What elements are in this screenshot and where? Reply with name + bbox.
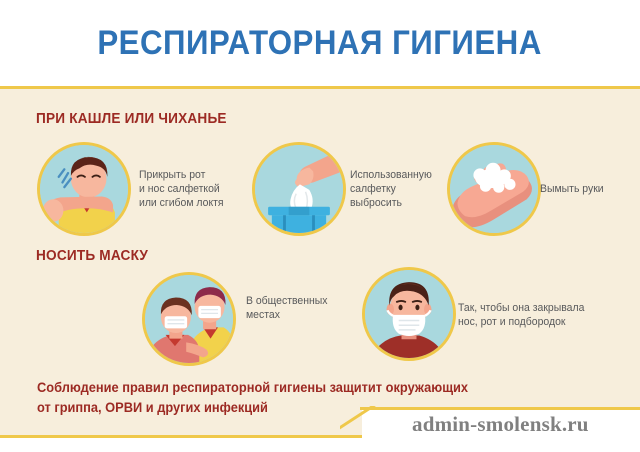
caption-line: нос, рот и подбородок <box>458 315 584 329</box>
masked-person-illustration <box>365 270 453 358</box>
washing-hands-icon <box>447 142 541 236</box>
tissue-bin-illustration <box>255 145 343 233</box>
caption-line: и нос салфеткой <box>139 182 224 196</box>
caption-mask-coverage: Так, чтобы она закрывала нос, рот и подб… <box>458 301 584 329</box>
section-heading-cough: ПРИ КАШЛЕ ИЛИ ЧИХАНЬЕ <box>36 111 227 127</box>
caption-line: Использованную <box>350 168 432 182</box>
caption-line: Так, чтобы она закрывала <box>458 301 584 315</box>
caption-public-places: В общественных местах <box>246 294 328 322</box>
title-band: РЕСПИРАТОРНАЯ ГИГИЕНА <box>0 0 640 86</box>
caption-discard-tissue: Использованную салфетку выбросить <box>350 168 432 210</box>
section-heading-mask: НОСИТЬ МАСКУ <box>36 248 148 264</box>
frame-upper-right-rule <box>360 407 640 410</box>
hand-dropping-tissue-in-bin-icon <box>252 142 346 236</box>
handwash-illustration <box>450 145 538 233</box>
person-coughing-into-elbow-icon <box>37 142 131 236</box>
caption-line: или сгибом локтя <box>139 196 224 210</box>
caption-line: Прикрыть рот <box>139 168 224 182</box>
caption-wash-hands: Вымыть руки <box>540 182 604 196</box>
watermark-site-url: admin-smolensk.ru <box>412 412 589 437</box>
footer-line: Соблюдение правил респираторной гигиены … <box>37 378 468 398</box>
caption-line: местах <box>246 308 328 322</box>
caption-cover-mouth: Прикрыть рот и нос салфеткой или сгибом … <box>139 168 224 210</box>
caption-line: В общественных <box>246 294 328 308</box>
caption-line: выбросить <box>350 196 432 210</box>
caption-line: Вымыть руки <box>540 182 604 196</box>
coughing-illustration <box>40 145 128 233</box>
two-people-wearing-masks-icon <box>142 272 236 366</box>
person-wearing-mask-front-icon <box>362 267 456 361</box>
infographic-poster: РЕСПИРАТОРНАЯ ГИГИЕНА ПРИ КАШЛЕ ИЛИ ЧИХА… <box>0 0 640 452</box>
two-masked-people-illustration <box>145 275 233 363</box>
page-title: РЕСПИРАТОРНАЯ ГИГИЕНА <box>98 24 542 63</box>
caption-line: салфетку <box>350 182 432 196</box>
frame-diagonal-notch <box>340 406 382 438</box>
